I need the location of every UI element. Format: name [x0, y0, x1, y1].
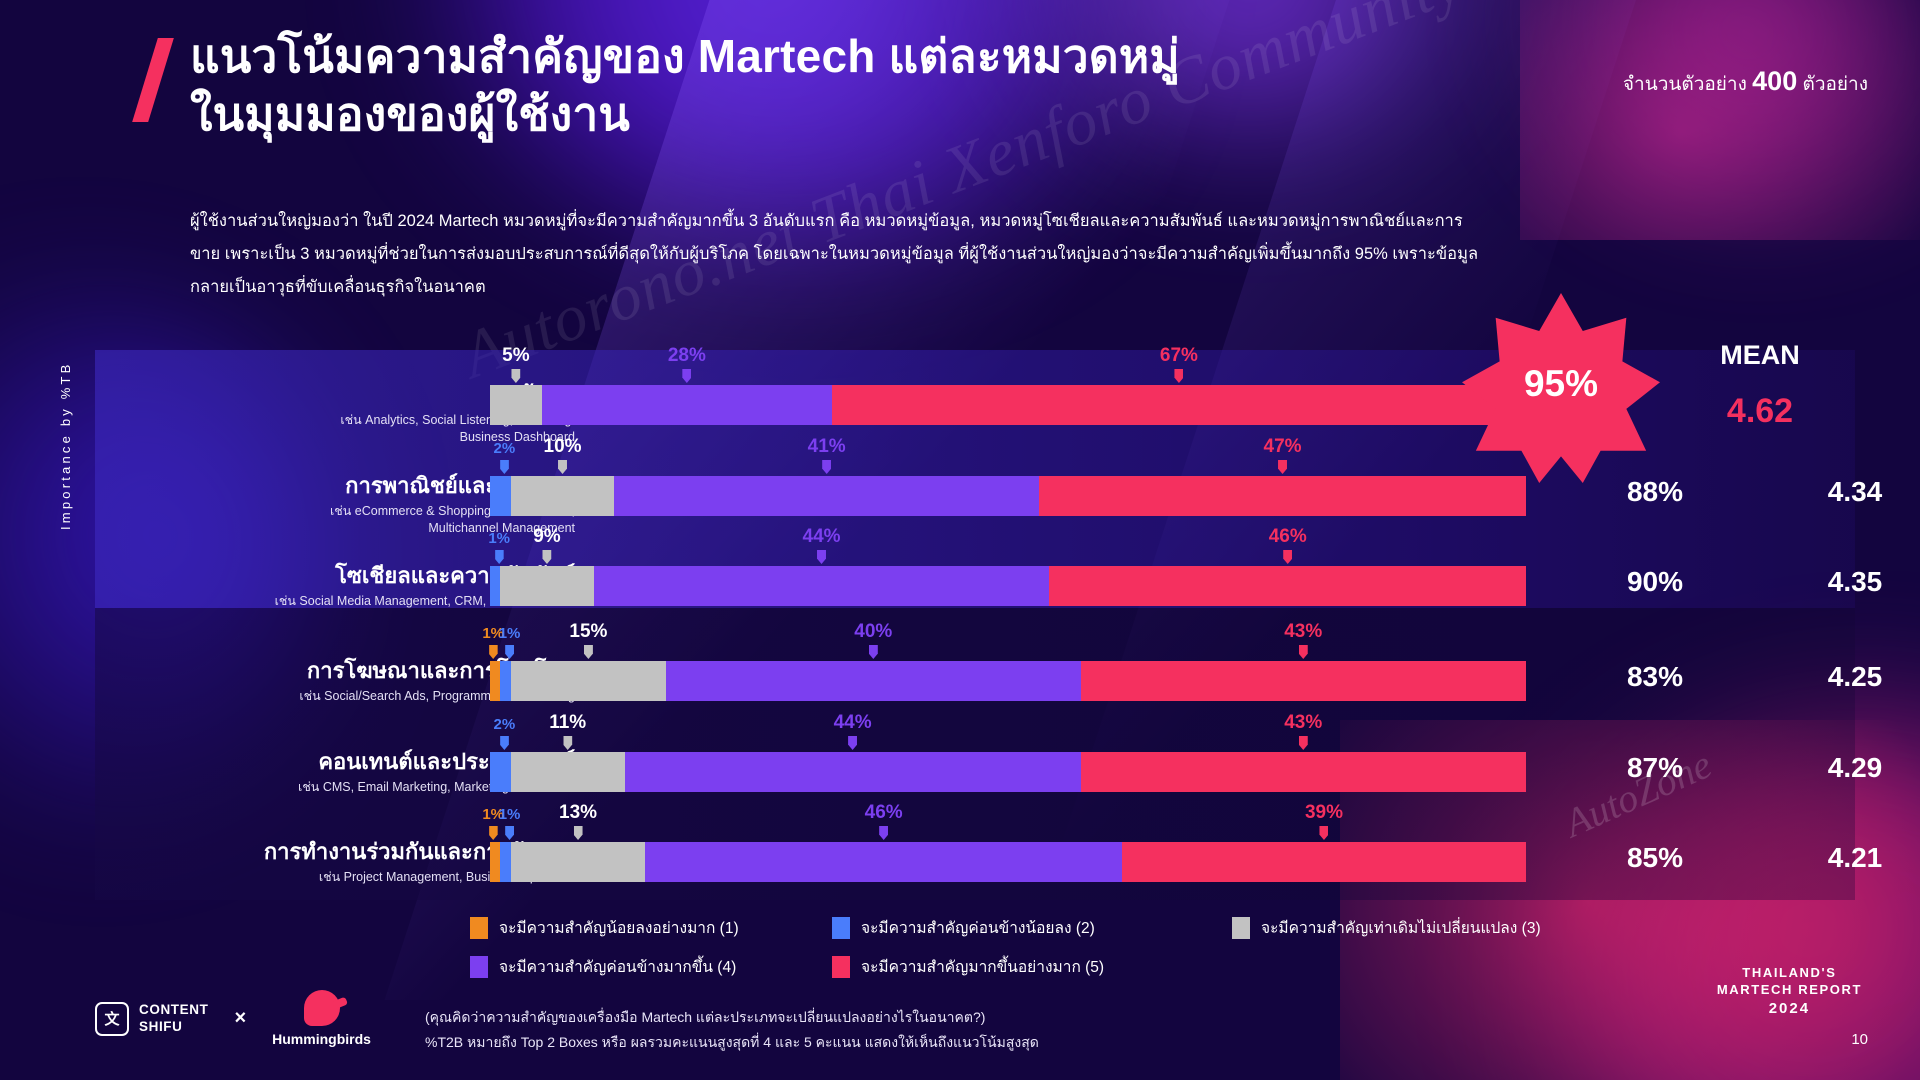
callout-pin-icon: [500, 736, 509, 750]
callout-value: 28%: [668, 346, 706, 365]
callout-value: 1%: [499, 626, 521, 641]
value-callout-grey: 13%: [559, 803, 597, 840]
callout-value: 46%: [865, 803, 903, 822]
value-callout-purple: 41%: [808, 437, 846, 474]
bar-segment-grey[interactable]: [490, 385, 542, 425]
brand1-line-1: CONTENT: [139, 1002, 208, 1019]
legend-row-1: จะมีความสำคัญน้อยลงอย่างมาก (1) จะมีความ…: [470, 915, 1650, 940]
bar-segment-pink[interactable]: [832, 385, 1526, 425]
sample-size-value: 400: [1752, 66, 1797, 96]
content-shifu-wordmark: CONTENT SHIFU: [139, 1002, 208, 1036]
content-shifu-logo-icon: 文: [95, 1002, 129, 1036]
row-value-callouts: 2%10%41%47%: [490, 436, 1526, 474]
stacked-bar[interactable]: [490, 661, 1526, 701]
callout-pin-icon: [558, 460, 567, 474]
slide-page: แนวโน้มความสำคัญของ Martech แต่ละหมวดหมู…: [0, 0, 1920, 1080]
stacked-bar[interactable]: [490, 476, 1526, 516]
legend-swatch-icon: [1232, 917, 1250, 939]
intro-paragraph: ผู้ใช้งานส่วนใหญ่มองว่า ในปี 2024 Martec…: [190, 205, 1480, 304]
legend-swatch-icon: [470, 917, 488, 939]
hummingbirds-wordmark: Hummingbirds: [272, 1031, 371, 1047]
callout-value: 39%: [1305, 803, 1343, 822]
callout-pin-icon: [542, 550, 551, 564]
bar-segment-blue[interactable]: [500, 661, 510, 701]
y-axis-label: Importance by %TB: [58, 361, 73, 530]
legend-item-3[interactable]: จะมีความสำคัญเท่าเดิมไม่เปลี่ยนแปลง (3): [1232, 915, 1541, 940]
bar-segment-orange[interactable]: [490, 661, 500, 701]
value-callout-purple: 40%: [854, 622, 892, 659]
callout-value: 47%: [1264, 437, 1302, 456]
report-badge-line-2: MARTECH REPORT: [1717, 982, 1862, 999]
bar-segment-pink[interactable]: [1039, 476, 1526, 516]
callout-pin-icon: [1299, 736, 1308, 750]
stacked-bar[interactable]: [490, 842, 1526, 882]
bar-segment-grey[interactable]: [511, 476, 615, 516]
legend-swatch-icon: [832, 956, 850, 978]
row-mean-value: 4.34: [1775, 476, 1920, 508]
value-callout-purple: 44%: [834, 713, 872, 750]
row-value-callouts: 5%28%67%: [490, 345, 1526, 383]
value-callout-purple: 44%: [803, 527, 841, 564]
value-callout-pink: 43%: [1284, 713, 1322, 750]
callout-value: 43%: [1284, 713, 1322, 732]
callout-pin-icon: [879, 826, 888, 840]
chart-row: การทำงานร่วมกันและการจัดการเช่น Project …: [95, 840, 1855, 926]
page-title-line-1: แนวโน้มความสำคัญของ Martech แต่ละหมวดหมู…: [190, 28, 1450, 86]
row-value-callouts: 2%11%44%43%: [490, 712, 1526, 750]
value-callout-grey: 5%: [502, 346, 529, 383]
brand1-line-2: SHIFU: [139, 1019, 208, 1036]
value-callout-purple: 46%: [865, 803, 903, 840]
callout-value: 46%: [1269, 527, 1307, 546]
sample-size-suffix: ตัวอย่าง: [1797, 74, 1868, 95]
highlight-star-badge: 95%: [1462, 293, 1660, 483]
brand-content-shifu[interactable]: 文 CONTENT SHIFU: [95, 1002, 208, 1036]
callout-value: 15%: [569, 622, 607, 641]
title-accent-slash: [132, 38, 174, 122]
stacked-bar[interactable]: [490, 566, 1526, 606]
value-callout-blue: 1%: [499, 807, 521, 840]
legend-label: จะมีความสำคัญน้อยลงอย่างมาก (1): [499, 915, 739, 940]
callout-pin-icon: [500, 460, 509, 474]
value-callout-grey: 9%: [533, 527, 560, 564]
callout-pin-icon: [822, 460, 831, 474]
footer-notes: (คุณคิดว่าความสำคัญของเครื่องมือ Martech…: [425, 1005, 1039, 1054]
row-t2b-value: 85%: [1575, 842, 1735, 874]
legend-item-5[interactable]: จะมีความสำคัญมากขึ้นอย่างมาก (5): [832, 954, 1232, 979]
value-callout-pink: 67%: [1160, 346, 1198, 383]
value-callout-grey: 10%: [544, 437, 582, 474]
callout-pin-icon: [574, 826, 583, 840]
value-callout-pink: 47%: [1264, 437, 1302, 474]
report-badge-line-1: THAILAND'S: [1717, 965, 1862, 982]
bar-segment-grey[interactable]: [511, 752, 625, 792]
value-callout-blue: 1%: [488, 531, 510, 564]
callout-pin-icon: [489, 645, 498, 659]
row-t2b-value: 83%: [1575, 661, 1735, 693]
callout-value: 2%: [494, 717, 516, 732]
callout-pin-icon: [1283, 550, 1292, 564]
row-mean-value: 4.21: [1775, 842, 1920, 874]
bar-segment-pink[interactable]: [1081, 752, 1526, 792]
bar-segment-pink[interactable]: [1049, 566, 1526, 606]
callout-pin-icon: [495, 550, 504, 564]
row-t2b-value: 87%: [1575, 752, 1735, 784]
value-callout-pink: 39%: [1305, 803, 1343, 840]
sample-size-note: จำนวนตัวอย่าง 400 ตัวอย่าง: [1623, 66, 1868, 99]
callout-value: 43%: [1284, 622, 1322, 641]
callout-value: 13%: [559, 803, 597, 822]
callout-pin-icon: [584, 645, 593, 659]
bar-segment-grey[interactable]: [511, 661, 666, 701]
callout-pin-icon: [1174, 369, 1183, 383]
value-callout-grey: 15%: [569, 622, 607, 659]
page-number: 10: [1851, 1031, 1868, 1048]
callout-pin-icon: [1299, 645, 1308, 659]
slide-header: แนวโน้มความสำคัญของ Martech แต่ละหมวดหมู…: [0, 0, 1920, 170]
callout-pin-icon: [505, 645, 514, 659]
bar-segment-purple[interactable]: [625, 752, 1081, 792]
value-callout-purple: 28%: [668, 346, 706, 383]
row-value-callouts: 1%1%13%46%39%: [490, 802, 1526, 840]
bar-segment-purple[interactable]: [645, 842, 1122, 882]
value-callout-pink: 46%: [1269, 527, 1307, 564]
callout-pin-icon: [869, 645, 878, 659]
bar-segment-orange[interactable]: [490, 842, 500, 882]
bar-segment-grey[interactable]: [500, 566, 593, 606]
callout-value: 9%: [533, 527, 560, 546]
callout-pin-icon: [505, 826, 514, 840]
sample-size-prefix: จำนวนตัวอย่าง: [1623, 74, 1752, 95]
highlight-mean-value: 4.62: [1680, 392, 1840, 431]
brand-separator-x: ×: [234, 1007, 246, 1030]
callout-value: 11%: [549, 713, 586, 732]
footer-note-question: (คุณคิดว่าความสำคัญของเครื่องมือ Martech…: [425, 1005, 1039, 1030]
callout-value: 10%: [544, 437, 582, 456]
value-callout-grey: 11%: [549, 713, 586, 750]
bar-segment-pink[interactable]: [1081, 661, 1526, 701]
hummingbird-icon: [304, 990, 340, 1026]
chart-legend: จะมีความสำคัญน้อยลงอย่างมาก (1) จะมีความ…: [470, 915, 1650, 993]
value-callout-blue: 2%: [494, 717, 516, 750]
value-callout-pink: 43%: [1284, 622, 1322, 659]
callout-value: 44%: [803, 527, 841, 546]
brand-logos: 文 CONTENT SHIFU × Hummingbirds: [95, 990, 371, 1047]
stacked-bar[interactable]: [490, 385, 1526, 425]
legend-swatch-icon: [832, 917, 850, 939]
value-callout-blue: 2%: [494, 441, 516, 474]
bar-segment-grey[interactable]: [511, 842, 646, 882]
brand-hummingbirds[interactable]: Hummingbirds: [272, 990, 371, 1047]
callout-value: 67%: [1160, 346, 1198, 365]
legend-item-1[interactable]: จะมีความสำคัญน้อยลงอย่างมาก (1): [470, 915, 832, 940]
callout-value: 1%: [488, 531, 510, 546]
callout-value: 1%: [499, 807, 521, 822]
bar-segment-purple[interactable]: [666, 661, 1080, 701]
callout-pin-icon: [682, 369, 691, 383]
star-t2b-value: 95%: [1462, 293, 1660, 483]
row-value-callouts: 1%1%15%40%43%: [490, 621, 1526, 659]
page-title-line-2: ในมุมมองของผู้ใช้งาน: [190, 86, 1450, 144]
report-badge: THAILAND'S MARTECH REPORT 2024: [1717, 965, 1862, 1018]
row-mean-value: 4.25: [1775, 661, 1920, 693]
page-title: แนวโน้มความสำคัญของ Martech แต่ละหมวดหมู…: [190, 28, 1450, 144]
row-value-callouts: 1%9%44%46%: [490, 526, 1526, 564]
value-callout-blue: 1%: [499, 626, 521, 659]
bar-segment-blue[interactable]: [500, 842, 510, 882]
stacked-bar[interactable]: [490, 752, 1526, 792]
callout-value: 2%: [494, 441, 516, 456]
callout-pin-icon: [817, 550, 826, 564]
callout-pin-icon: [1319, 826, 1328, 840]
legend-label: จะมีความสำคัญมากขึ้นอย่างมาก (5): [861, 954, 1104, 979]
legend-item-2[interactable]: จะมีความสำคัญค่อนข้างน้อยลง (2): [832, 915, 1232, 940]
row-t2b-value: 90%: [1575, 566, 1735, 598]
legend-swatch-icon: [470, 956, 488, 978]
bar-segment-blue[interactable]: [490, 476, 511, 516]
callout-pin-icon: [511, 369, 520, 383]
legend-label: จะมีความสำคัญค่อนข้างมากขึ้น (4): [499, 954, 736, 979]
bar-segment-pink[interactable]: [1122, 842, 1526, 882]
legend-label: จะมีความสำคัญเท่าเดิมไม่เปลี่ยนแปลง (3): [1261, 915, 1541, 940]
callout-pin-icon: [489, 826, 498, 840]
callout-value: 40%: [854, 622, 892, 641]
bar-segment-purple[interactable]: [594, 566, 1050, 606]
callout-pin-icon: [1278, 460, 1287, 474]
callout-pin-icon: [563, 736, 572, 750]
legend-item-4[interactable]: จะมีความสำคัญค่อนข้างมากขึ้น (4): [470, 954, 832, 979]
legend-row-2: จะมีความสำคัญค่อนข้างมากขึ้น (4) จะมีควา…: [470, 954, 1650, 979]
footer-note-t2b-definition: %T2B หมายถึง Top 2 Boxes หรือ ผลรวมคะแนน…: [425, 1030, 1039, 1055]
bar-segment-purple[interactable]: [542, 385, 832, 425]
bar-segment-blue[interactable]: [490, 566, 500, 606]
legend-label: จะมีความสำคัญค่อนข้างน้อยลง (2): [861, 915, 1095, 940]
column-header-mean: MEAN: [1680, 340, 1840, 371]
callout-value: 44%: [834, 713, 872, 732]
callout-value: 5%: [502, 346, 529, 365]
row-mean-value: 4.35: [1775, 566, 1920, 598]
row-mean-value: 4.29: [1775, 752, 1920, 784]
callout-pin-icon: [848, 736, 857, 750]
report-badge-year: 2024: [1717, 999, 1862, 1019]
bar-segment-blue[interactable]: [490, 752, 511, 792]
bar-segment-purple[interactable]: [614, 476, 1039, 516]
callout-value: 41%: [808, 437, 846, 456]
